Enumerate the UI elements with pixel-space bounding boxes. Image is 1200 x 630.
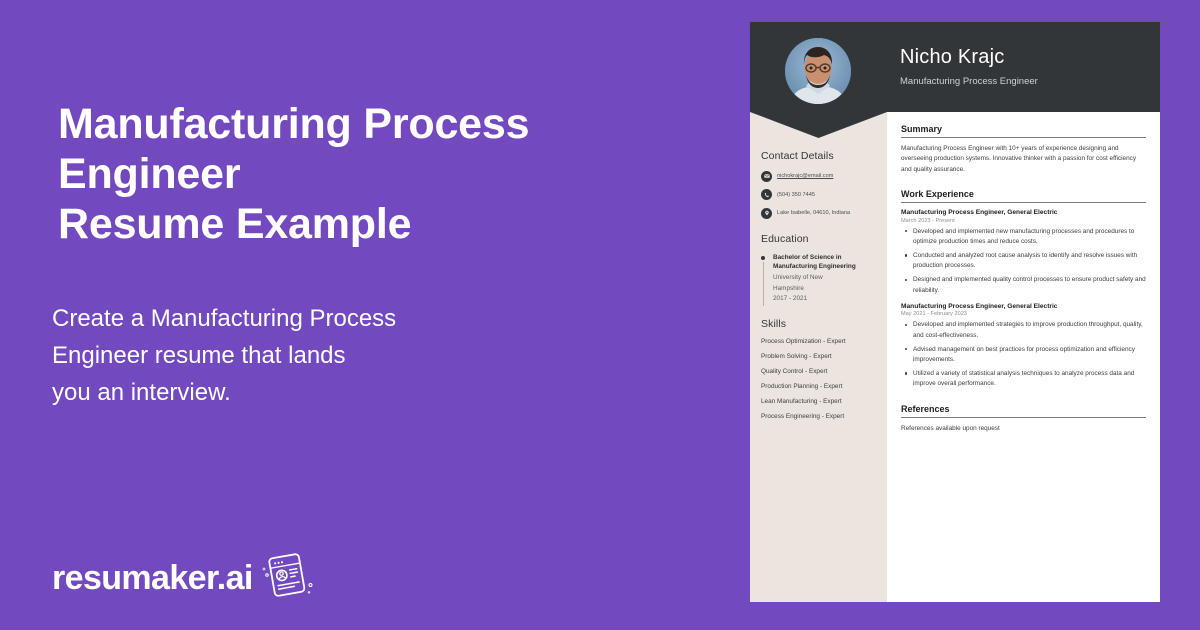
resume-job-title: Manufacturing Process Engineer [900, 76, 1038, 87]
education-degree-line1: Bachelor of Science in [773, 253, 881, 263]
location-pin-icon [761, 208, 772, 219]
job-bullet: Utilized a variety of statistical analys… [901, 369, 1146, 390]
contact-location-text: Lake Isabelle, 04610, Indiana [777, 207, 850, 217]
education-heading: Education [761, 233, 881, 245]
education-school-line2: Hampshire [773, 284, 881, 294]
contact-item-phone[interactable]: (504) 350 7445 [761, 189, 881, 201]
education-section: Education Bachelor of Science in Manufac… [761, 233, 881, 305]
contact-details-heading: Contact Details [761, 150, 881, 162]
job-date: May 2021 - February 2023 [901, 311, 1146, 317]
contact-details-section: Contact Details nichokrajc@email.com (50… [761, 150, 881, 219]
summary-section: Summary Manufacturing Process Engineer w… [901, 124, 1146, 175]
resumaker-logo[interactable]: resumaker.ai [52, 548, 315, 609]
job-title: Manufacturing Process Engineer, General … [901, 303, 1146, 310]
timeline-line [763, 262, 764, 306]
education-entry: Bachelor of Science in Manufacturing Eng… [761, 253, 881, 305]
job-bullet: Developed and implemented strategies to … [901, 320, 1146, 341]
page-subtitle-line2: Engineer resume that lands [52, 337, 522, 374]
logo-wordmark: resumaker.ai [52, 559, 253, 598]
envelope-icon [761, 171, 772, 182]
education-degree-line2: Manufacturing Engineering [773, 262, 881, 272]
bullet-dot-icon [761, 256, 765, 260]
resume-name: Nicho Krajc [900, 46, 1004, 69]
avatar [785, 38, 851, 104]
resume-preview-card[interactable]: Nicho Krajc Manufacturing Process Engine… [750, 22, 1160, 602]
promo-panel: Manufacturing Process Engineer Resume Ex… [0, 0, 750, 630]
skills-section: Skills Process Optimization - Expert Pro… [761, 318, 881, 420]
skill-item: Quality Control - Expert [761, 368, 881, 375]
education-years: 2017 - 2021 [773, 294, 881, 304]
contact-phone-text: (504) 350 7445 [777, 189, 815, 199]
education-school-line1: University of New [773, 273, 881, 283]
contact-item-location[interactable]: Lake Isabelle, 04610, Indiana [761, 207, 881, 219]
job-bullet: Developed and implemented new manufactur… [901, 227, 1146, 248]
summary-heading: Summary [901, 124, 1146, 138]
work-experience-heading: Work Experience [901, 189, 1146, 203]
job-date: March 2023 - Present [901, 218, 1146, 224]
page-subtitle: Create a Manufacturing Process Engineer … [52, 300, 522, 412]
phone-icon [761, 189, 772, 200]
page-title-line1: Manufacturing Process Engineer [58, 100, 698, 200]
page-subtitle-line3: you an interview. [52, 374, 522, 411]
resume-document-icon [259, 548, 315, 609]
job-bullet: Conducted and analyzed root cause analys… [901, 251, 1146, 272]
page-title-line2: Resume Example [58, 200, 698, 250]
job-title: Manufacturing Process Engineer, General … [901, 209, 1146, 216]
page-title: Manufacturing Process Engineer Resume Ex… [58, 100, 698, 250]
references-heading: References [901, 404, 1146, 418]
job-bullet-list: Developed and implemented new manufactur… [901, 227, 1146, 296]
skill-item: Process Engineering - Expert [761, 413, 881, 420]
skills-heading: Skills [761, 318, 881, 330]
contact-item-email[interactable]: nichokrajc@email.com [761, 170, 881, 182]
resume-main-column: Summary Manufacturing Process Engineer w… [901, 124, 1146, 448]
skill-item: Production Planning - Expert [761, 383, 881, 390]
skill-item: Problem Solving - Expert [761, 353, 881, 360]
page-subtitle-line1: Create a Manufacturing Process [52, 300, 522, 337]
work-experience-job: Manufacturing Process Engineer, General … [901, 209, 1146, 296]
skill-item: Process Optimization - Expert [761, 338, 881, 345]
job-bullet-list: Developed and implemented strategies to … [901, 320, 1146, 389]
skill-item: Lean Manufacturing - Expert [761, 398, 881, 405]
references-section: References References available upon req… [901, 404, 1146, 434]
job-bullet: Designed and implemented quality control… [901, 275, 1146, 296]
resume-sidebar: Contact Details nichokrajc@email.com (50… [761, 150, 881, 434]
work-experience-job: Manufacturing Process Engineer, General … [901, 303, 1146, 390]
summary-text: Manufacturing Process Engineer with 10+ … [901, 144, 1146, 175]
work-experience-section: Work Experience Manufacturing Process En… [901, 189, 1146, 390]
references-text: References available upon request [901, 424, 1146, 434]
job-bullet: Advised management on best practices for… [901, 345, 1146, 366]
contact-email-text: nichokrajc@email.com [777, 170, 833, 180]
